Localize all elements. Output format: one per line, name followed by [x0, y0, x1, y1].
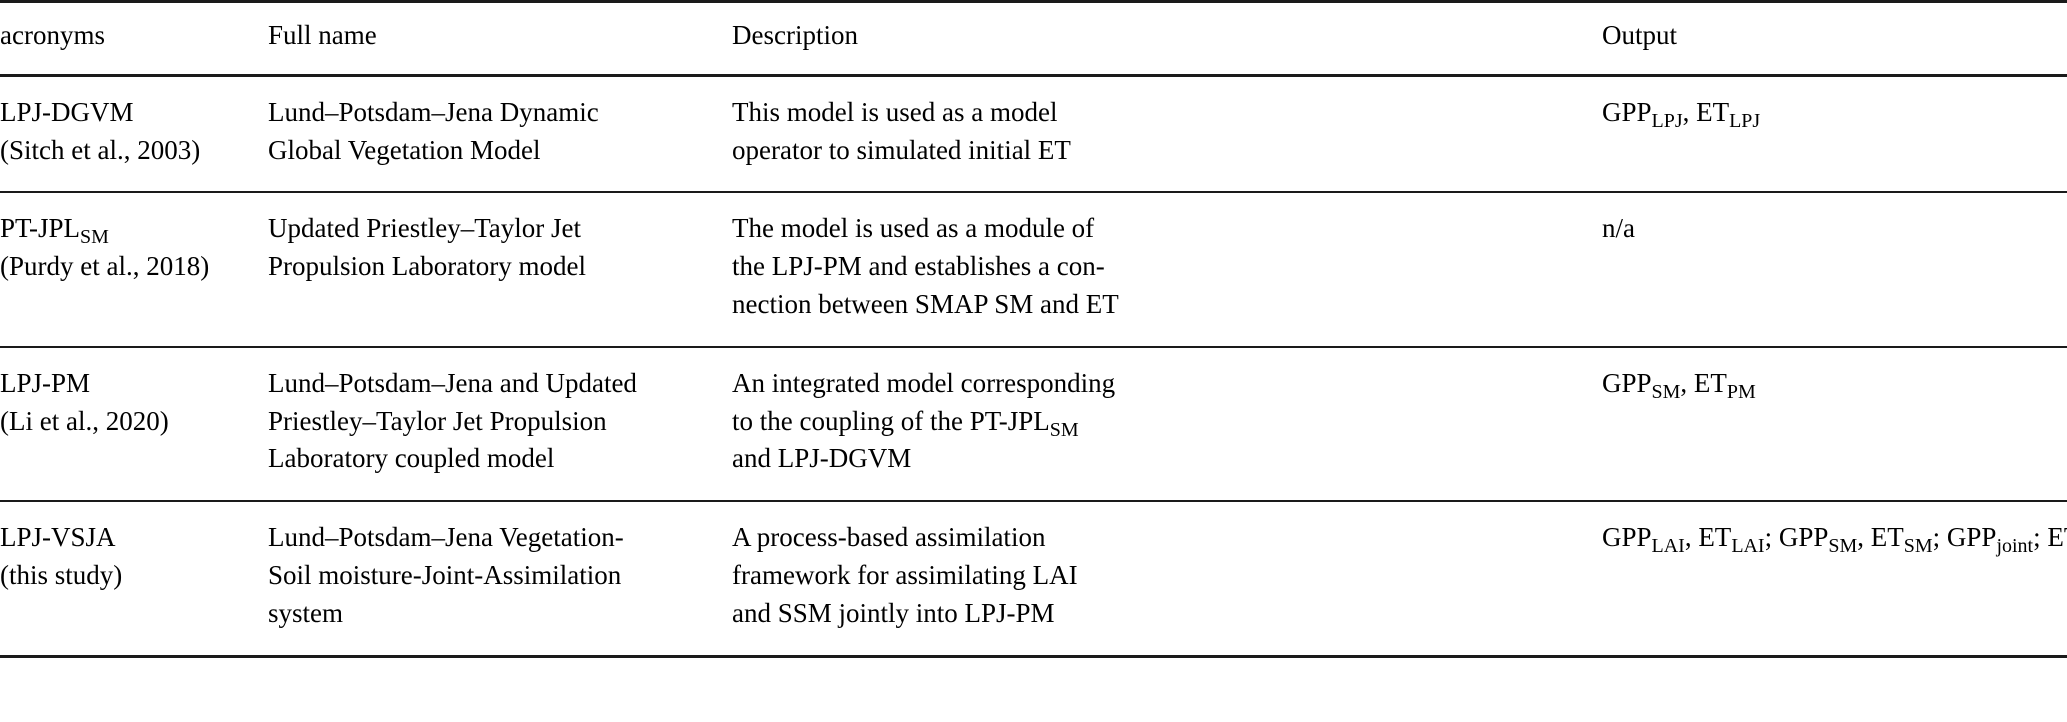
output-term-subscript: LPJ	[1652, 110, 1683, 132]
description-inline-subscript: SM	[1050, 419, 1079, 441]
cell-full-name: Lund–Potsdam–Jena Dynamic Global Vegetat…	[268, 75, 732, 192]
output-term-subscript: SM	[1652, 381, 1681, 403]
full-name-line: Lund–Potsdam–Jena Dynamic	[268, 94, 732, 132]
output-term-subscript: SM	[1828, 535, 1857, 557]
full-name-line: Priestley–Taylor Jet Propulsion	[268, 403, 732, 441]
description-line: An integrated model corresponding	[732, 365, 1602, 403]
output-expression: GPPLAI, ETLAI; GPPSM, ETSM; GPPjoint; ET…	[1602, 519, 2067, 557]
output-term-subscript: LAI	[1652, 535, 1685, 557]
table-body: LPJ-DGVM (Sitch et al., 2003) Lund–Potsd…	[0, 75, 2067, 656]
output-term-base: ET	[2047, 522, 2067, 552]
cell-output: GPPLAI, ETLAI; GPPSM, ETSM; GPPjoint; ET…	[1602, 501, 2067, 656]
full-name-line: Propulsion Laboratory model	[268, 248, 732, 286]
column-header-acronyms: acronyms	[0, 2, 268, 76]
output-expression: GPPLPJ, ETLPJ	[1602, 94, 2067, 132]
acronym-table: acronyms Full name Description Output LP…	[0, 0, 2067, 658]
full-name-line: Lund–Potsdam–Jena Vegetation-	[268, 519, 732, 557]
output-term: ETLAI	[1698, 522, 1764, 552]
output-term-base: GPP	[1602, 522, 1652, 552]
output-term: ETjoint	[2047, 522, 2067, 552]
description-line: A process-based assimilation	[732, 519, 1602, 557]
output-separator: ,	[1683, 97, 1697, 127]
acronym-name: LPJ-DGVM	[0, 94, 268, 132]
table-row: PT-JPLSM (Purdy et al., 2018) Updated Pr…	[0, 192, 2067, 346]
output-term: GPPSM	[1602, 368, 1680, 398]
description-line: the LPJ-PM and establishes a con-	[732, 248, 1602, 286]
header-row: acronyms Full name Description Output	[0, 2, 2067, 76]
acronym-name-subscript: SM	[80, 226, 109, 248]
column-header-full-name: Full name	[268, 2, 732, 76]
acronym-table-figure: acronyms Full name Description Output LP…	[0, 0, 2067, 722]
output-separator: ,	[1680, 368, 1694, 398]
output-term-base: GPP	[1947, 522, 1997, 552]
cell-description: The model is used as a module of the LPJ…	[732, 192, 1602, 346]
output-term: GPPLAI	[1602, 522, 1685, 552]
output-term-subscript: PM	[1727, 381, 1756, 403]
output-separator: ,	[1685, 522, 1699, 552]
cell-description: An integrated model corresponding to the…	[732, 347, 1602, 501]
output-term-base: ET	[1694, 368, 1727, 398]
column-header-description: Description	[732, 2, 1602, 76]
cell-full-name: Lund–Potsdam–Jena and Updated Priestley–…	[268, 347, 732, 501]
cell-full-name: Lund–Potsdam–Jena Vegetation- Soil moist…	[268, 501, 732, 656]
output-term-subscript: LAI	[1731, 535, 1764, 557]
full-name-line: Laboratory coupled model	[268, 440, 732, 478]
output-expression: GPPSM, ETPM	[1602, 365, 2067, 403]
output-term: ETLPJ	[1696, 97, 1760, 127]
output-term-base: GPP	[1779, 522, 1829, 552]
table-row: LPJ-DGVM (Sitch et al., 2003) Lund–Potsd…	[0, 75, 2067, 192]
acronym-name: LPJ-PM	[0, 365, 268, 403]
full-name-line: system	[268, 595, 732, 633]
output-term-subscript: SM	[1904, 535, 1933, 557]
description-line: This model is used as a model	[732, 94, 1602, 132]
output-term-base: ET	[1871, 522, 1904, 552]
acronym-reference: (Purdy et al., 2018)	[0, 248, 268, 286]
description-line: The model is used as a module of	[732, 210, 1602, 248]
output-separator: ;	[1765, 522, 1779, 552]
description-line: nection between SMAP SM and ET	[732, 286, 1602, 324]
column-header-output: Output	[1602, 2, 2067, 76]
output-term: ETPM	[1694, 368, 1756, 398]
output-term-subscript: LPJ	[1729, 110, 1760, 132]
output-term: ETSM	[1871, 522, 1933, 552]
output-term: GPPjoint	[1947, 522, 2033, 552]
cell-description: This model is used as a model operator t…	[732, 75, 1602, 192]
description-line-text: to the coupling of the PT-JPL	[732, 406, 1050, 436]
full-name-line: Global Vegetation Model	[268, 132, 732, 170]
output-term-base: GPP	[1602, 97, 1652, 127]
table-row: LPJ-VSJA (this study) Lund–Potsdam–Jena …	[0, 501, 2067, 656]
cell-output: GPPSM, ETPM	[1602, 347, 2067, 501]
output-term-base: ET	[1696, 97, 1729, 127]
output-term-base: ET	[1698, 522, 1731, 552]
output-expression: n/a	[1602, 210, 2067, 248]
full-name-line: Soil moisture-Joint-Assimilation	[268, 557, 732, 595]
description-line: operator to simulated initial ET	[732, 132, 1602, 170]
cell-full-name: Updated Priestley–Taylor Jet Propulsion …	[268, 192, 732, 346]
cell-acronym: LPJ-VSJA (this study)	[0, 501, 268, 656]
acronym-name: LPJ-VSJA	[0, 519, 268, 557]
output-separator: ;	[2033, 522, 2047, 552]
cell-output: GPPLPJ, ETLPJ	[1602, 75, 2067, 192]
table-row: LPJ-PM (Li et al., 2020) Lund–Potsdam–Je…	[0, 347, 2067, 501]
acronym-name: PT-JPLSM	[0, 210, 268, 248]
description-line: and LPJ-DGVM	[732, 440, 1602, 478]
acronym-reference: (this study)	[0, 557, 268, 595]
cell-acronym: LPJ-PM (Li et al., 2020)	[0, 347, 268, 501]
cell-acronym: LPJ-DGVM (Sitch et al., 2003)	[0, 75, 268, 192]
description-line: and SSM jointly into LPJ-PM	[732, 595, 1602, 633]
output-separator: ,	[1857, 522, 1871, 552]
cell-output: n/a	[1602, 192, 2067, 346]
full-name-line: Updated Priestley–Taylor Jet	[268, 210, 732, 248]
full-name-line: Lund–Potsdam–Jena and Updated	[268, 365, 732, 403]
output-term-base: GPP	[1602, 368, 1652, 398]
output-term: GPPSM	[1779, 522, 1857, 552]
acronym-reference: (Sitch et al., 2003)	[0, 132, 268, 170]
acronym-name-base: PT-JPL	[0, 213, 80, 243]
output-term: GPPLPJ	[1602, 97, 1683, 127]
cell-acronym: PT-JPLSM (Purdy et al., 2018)	[0, 192, 268, 346]
cell-description: A process-based assimilation framework f…	[732, 501, 1602, 656]
description-line: framework for assimilating LAI	[732, 557, 1602, 595]
table-header: acronyms Full name Description Output	[0, 2, 2067, 76]
acronym-reference: (Li et al., 2020)	[0, 403, 268, 441]
output-term-subscript: joint	[1996, 535, 2033, 557]
description-line: to the coupling of the PT-JPLSM	[732, 403, 1602, 441]
output-separator: ;	[1933, 522, 1947, 552]
